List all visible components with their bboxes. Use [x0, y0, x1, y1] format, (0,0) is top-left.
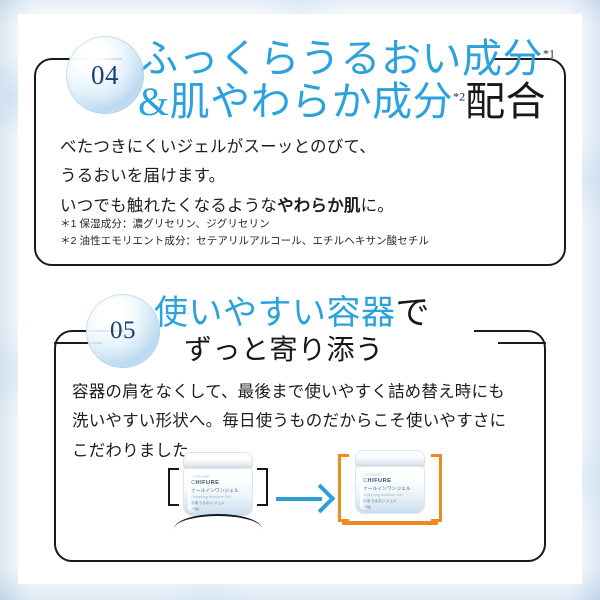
section-05-heading-line-1: 使いやすい容器で — [154, 296, 430, 332]
product-feature-page: 04 ふっくらうるおい成分*1 &肌やわらか成分*2配合 べたつきにくいジェルが… — [0, 0, 600, 600]
section-05-heading-line-1-main: 使いやすい容器 — [154, 295, 396, 332]
product-before: CHIFURE CHIFURE オールインワンジェル Whitening Moi… — [166, 452, 270, 542]
section-04-body-line-1: べたつきにくいジェルがスーッとのびて、 — [60, 133, 530, 162]
section-05-rule-right — [498, 342, 546, 344]
product-before-name-jp: オールインワンジェル — [191, 488, 245, 494]
product-before-brandmark: CHIFURE — [191, 475, 245, 479]
product-before-subtext: 薬用 うるおい ジェル — [191, 501, 245, 505]
product-before-lid — [183, 452, 253, 469]
before-bracket-left — [168, 468, 179, 506]
footnote-marker-2: *2 — [453, 90, 465, 104]
footnote-marker-1: *1 — [543, 47, 555, 61]
product-before-jar: CHIFURE CHIFURE オールインワンジェル Whitening Moi… — [183, 452, 253, 516]
step-badge-04: 04 — [66, 36, 144, 114]
before-bracket-right — [257, 468, 268, 506]
product-after-brandmark: CHIFURE — [363, 473, 417, 477]
section-04-heading: 04 ふっくらうるおい成分*1 &肌やわらか成分*2配合 — [66, 36, 555, 124]
arrow-right-icon — [276, 488, 334, 510]
section-04-heading-line-1-main: ふっくらうるおい成分 — [138, 36, 543, 81]
section-05-body-line-2: 洗いやすい形状へ。毎日使うものだからこそ使いやすさに — [72, 407, 512, 436]
section-04-footnotes: ＊1 保湿成分：濃グリセリン、ジグリセリン ＊2 油性エモリエント成分：セテアリ… — [60, 216, 429, 250]
product-after-lid — [355, 450, 425, 467]
section-05-heading: 05 使いやすい容器で ずっと寄り添う — [86, 294, 430, 368]
section-04-body-line-3-tail: に。 — [361, 197, 394, 215]
section-05-heading-text: 使いやすい容器で ずっと寄り添う — [154, 294, 430, 366]
section-04-heading-line-2-main: &肌やわらか成分 — [138, 79, 453, 124]
product-before-brand: CHIFURE — [191, 480, 245, 487]
section-05-body-line-1: 容器の肩をなくして、最後まで使いやすく詰め替え時にも — [72, 378, 512, 407]
product-before-name-en: Whitening Moisture Gel — [191, 495, 245, 499]
before-curve-underline — [174, 514, 262, 529]
section-04-body: べたつきにくいジェルがスーッとのびて、 うるおいを届けます。 いつでも触れたくな… — [60, 133, 530, 221]
product-after: CHIFURE CHIFURE オールインワンジェル Whitening Moi… — [338, 450, 442, 540]
after-bracket-right — [431, 454, 442, 522]
section-04-body-emphasis: やわらか肌 — [277, 197, 361, 215]
footnote-2: ＊2 油性エモリエント成分：セテアリルアルコール、エチルヘキサン酸セチル — [60, 233, 429, 250]
footnote-1: ＊1 保湿成分：濃グリセリン、ジグリセリン — [60, 216, 429, 233]
product-after-name-en: Whitening Moisture Gel — [363, 493, 417, 497]
product-after-brand: CHIFURE — [363, 478, 417, 485]
section-04-body-line-2: うるおいを届けます。 — [60, 162, 530, 191]
section-04-body-line-3-lead: いつでも触れたくなるような — [60, 197, 277, 215]
section-05-heading-line-2: ずっと寄り添う — [184, 336, 430, 366]
after-flat-base-bar — [342, 521, 438, 525]
product-before-volume: 108g — [191, 507, 245, 511]
product-after-jar: CHIFURE CHIFURE オールインワンジェル Whitening Moi… — [355, 450, 425, 514]
product-after-volume: 108g — [363, 505, 417, 509]
section-04-heading-text: ふっくらうるおい成分*1 &肌やわらか成分*2配合 — [138, 36, 555, 124]
step-badge-05: 05 — [86, 294, 160, 368]
product-after-name-jp: オールインワンジェル — [363, 486, 417, 492]
step-badge-number: 04 — [91, 60, 119, 91]
section-04-heading-line-1: ふっくらうるおい成分*1 — [138, 38, 555, 80]
after-bracket-left — [338, 454, 349, 522]
product-comparison: CHIFURE CHIFURE オールインワンジェル Whitening Moi… — [70, 450, 530, 546]
product-after-body: CHIFURE CHIFURE オールインワンジェル Whitening Moi… — [355, 466, 425, 514]
product-before-label: CHIFURE CHIFURE オールインワンジェル Whitening Moi… — [191, 475, 245, 511]
product-before-body: CHIFURE CHIFURE オールインワンジェル Whitening Moi… — [183, 468, 253, 516]
step-badge-number: 05 — [110, 317, 136, 345]
product-after-subtext: 薬用 うるおい ジェル — [363, 499, 417, 503]
section-04-heading-line-2-tail: 配合 — [465, 79, 546, 124]
product-after-label: CHIFURE CHIFURE オールインワンジェル Whitening Moi… — [363, 473, 417, 509]
arrow-head — [306, 484, 336, 514]
section-05-heading-line-1-tail: で — [396, 295, 431, 332]
section-04-heading-line-2: &肌やわらか成分*2配合 — [138, 81, 555, 123]
